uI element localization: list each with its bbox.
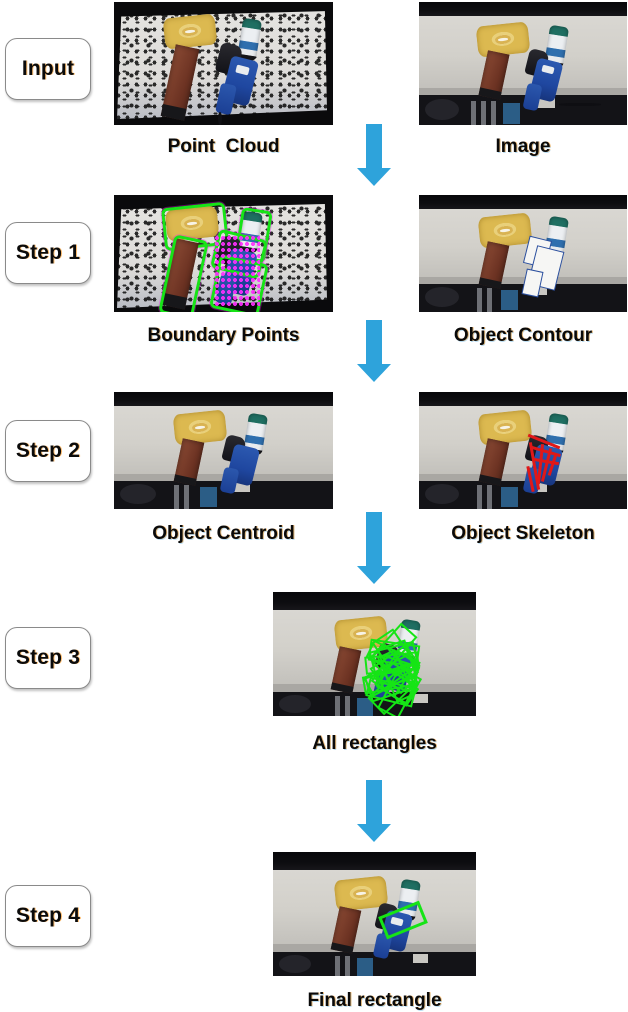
panel-object-centroid [114, 392, 333, 509]
object-pouch [173, 409, 228, 445]
drill-boundary-dots [214, 235, 260, 307]
stage-pill-step-4: Step 4 [5, 885, 91, 947]
scene-image [419, 2, 627, 125]
arrow-step1-to-step2 [352, 320, 396, 382]
arrow-shaft [366, 124, 382, 170]
caption-final-rectangle: Final rectangle [273, 990, 476, 1012]
scene-boundary-points [114, 195, 333, 312]
arrow-shaft [366, 512, 382, 566]
object-pouch [163, 13, 218, 49]
object-pouch [476, 21, 531, 57]
coiled-hose [279, 695, 311, 713]
arrow-step3-to-step4 [352, 780, 396, 842]
panel-object-contour [419, 195, 627, 312]
panel-final-rectangle [273, 852, 476, 976]
workbench-edge [419, 474, 627, 481]
scene-top-shadow [419, 2, 627, 16]
scene-object-skeleton [419, 392, 627, 509]
caption-all-rectangles: All rectangles [273, 733, 476, 755]
scene-all-rectangles [273, 592, 476, 716]
arrow-shaft [366, 320, 382, 366]
frame-rail [335, 696, 340, 716]
metal-plate [413, 954, 428, 963]
pipeline-figure: Input Step 1 Step 2 Step 3 Step 4 Point [0, 0, 628, 1012]
arrow-step2-to-step3 [352, 512, 396, 584]
coiled-hose [279, 955, 311, 973]
scene-top-shadow [114, 392, 333, 406]
blue-equipment-box [501, 487, 518, 507]
object-pouch [478, 409, 533, 445]
blue-equipment-box [357, 958, 373, 976]
arrow-input-to-step1 [352, 124, 396, 186]
panel-all-rectangles [273, 592, 476, 716]
scene-top-shadow [273, 592, 476, 610]
scene-object-contour [419, 195, 627, 312]
frame-rail [487, 288, 492, 312]
frame-rail [477, 485, 482, 509]
stage-pill-label: Input [22, 57, 74, 81]
stage-pill-label: Step 2 [16, 439, 80, 463]
cable [559, 103, 601, 106]
blue-equipment-box [503, 103, 520, 124]
frame-rail [481, 101, 486, 125]
caption-object-skeleton: Object Skeleton [419, 523, 627, 545]
arrow-head [357, 168, 391, 186]
stage-pill-label: Step 4 [16, 904, 80, 928]
metal-plate [413, 694, 428, 703]
object-pouch [478, 212, 533, 248]
coiled-hose [425, 99, 459, 120]
scene-final-rectangle [273, 852, 476, 976]
frame-rail [345, 956, 350, 976]
scene-top-shadow [419, 195, 627, 209]
scene-point-cloud [114, 2, 333, 125]
frame-rail [184, 485, 189, 509]
coiled-hose [120, 484, 156, 504]
caption-object-centroid: Object Centroid [114, 523, 333, 545]
scene-object-centroid [114, 392, 333, 509]
coiled-hose [425, 484, 459, 504]
arrow-head [357, 364, 391, 382]
stage-pill-step-3: Step 3 [5, 627, 91, 689]
workbench-edge [419, 277, 627, 284]
panel-point-cloud [114, 2, 333, 125]
blue-equipment-box [200, 487, 217, 507]
stage-pill-label: Step 3 [16, 646, 80, 670]
frame-rail [335, 956, 340, 976]
frame-rail [174, 485, 179, 509]
frame-rail [477, 288, 482, 312]
caption-boundary-points: Boundary Points [114, 325, 333, 347]
stage-pill-label: Step 1 [16, 241, 80, 265]
blue-equipment-box [501, 290, 518, 310]
stage-pill-input: Input [5, 38, 91, 100]
frame-rail [345, 696, 350, 716]
arrow-shaft [366, 780, 382, 826]
arrow-head [357, 566, 391, 584]
panel-object-skeleton [419, 392, 627, 509]
coiled-hose [425, 287, 459, 307]
arrow-head [357, 824, 391, 842]
stage-pill-step-1: Step 1 [5, 222, 91, 284]
scene-top-shadow [273, 852, 476, 870]
caption-image: Image [419, 136, 627, 158]
frame-rail [487, 485, 492, 509]
workbench-edge [419, 88, 627, 95]
under-bench-area [419, 95, 627, 125]
frame-rail [471, 101, 476, 125]
frame-rail [491, 101, 496, 125]
caption-object-contour: Object Contour [419, 325, 627, 347]
caption-point-cloud: Point Cloud [114, 136, 333, 158]
drill-cord [218, 112, 222, 125]
panel-boundary-points [114, 195, 333, 312]
scene-top-shadow [419, 392, 627, 406]
stage-pill-step-2: Step 2 [5, 420, 91, 482]
panel-image [419, 2, 627, 125]
